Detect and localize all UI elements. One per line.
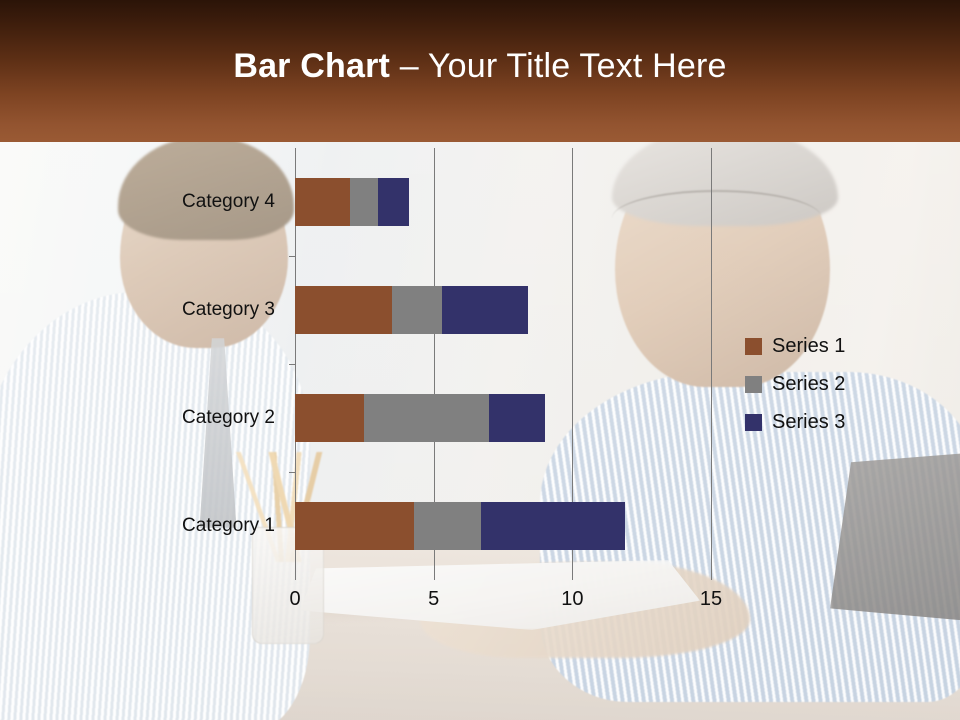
bar-segment-series-2[interactable] xyxy=(350,178,378,226)
legend-swatch-icon xyxy=(745,376,762,393)
chart-legend: Series 1Series 2Series 3 xyxy=(745,327,945,441)
stacked-bar[interactable] xyxy=(295,178,409,226)
bar-segment-series-3[interactable] xyxy=(481,502,625,550)
category-axis-label: Category 2 xyxy=(60,408,275,428)
plot-area xyxy=(295,148,711,580)
x-axis-tick-label: 0 xyxy=(265,588,325,611)
stacked-bar[interactable] xyxy=(295,286,528,334)
bar-segment-series-1[interactable] xyxy=(295,394,364,442)
legend-label: Series 1 xyxy=(772,335,845,358)
page-title-separator: – xyxy=(390,47,428,85)
gridline-x-15 xyxy=(711,148,712,580)
bar-segment-series-2[interactable] xyxy=(392,286,442,334)
legend-item[interactable]: Series 1 xyxy=(745,327,945,365)
legend-item[interactable]: Series 2 xyxy=(745,365,945,403)
legend-label: Series 3 xyxy=(772,411,845,434)
category-axis-label: Category 3 xyxy=(60,300,275,320)
legend-swatch-icon xyxy=(745,338,762,355)
bar-row xyxy=(295,256,711,364)
bar-segment-series-1[interactable] xyxy=(295,178,350,226)
x-axis-tick-label: 10 xyxy=(542,588,602,611)
category-axis-label: Category 1 xyxy=(60,516,275,536)
bar-segment-series-3[interactable] xyxy=(378,178,409,226)
bar-segment-series-3[interactable] xyxy=(442,286,528,334)
stacked-bar[interactable] xyxy=(295,394,545,442)
legend-label: Series 2 xyxy=(772,373,845,396)
bar-segment-series-2[interactable] xyxy=(364,394,489,442)
title-band: Bar Chart – Your Title Text Here xyxy=(0,0,960,142)
page-title-light: Your Title Text Here xyxy=(428,47,727,85)
bar-chart: Series 1Series 2Series 3 051015Category … xyxy=(0,142,960,720)
page-title: Bar Chart – Your Title Text Here xyxy=(0,47,960,86)
bar-segment-series-1[interactable] xyxy=(295,502,414,550)
bar-segment-series-1[interactable] xyxy=(295,286,392,334)
bar-segment-series-3[interactable] xyxy=(489,394,544,442)
category-axis-label: Category 4 xyxy=(60,192,275,212)
bar-row xyxy=(295,364,711,472)
bar-row xyxy=(295,472,711,580)
legend-item[interactable]: Series 3 xyxy=(745,403,945,441)
page-title-strong: Bar Chart xyxy=(233,47,390,85)
bar-row xyxy=(295,148,711,256)
stacked-bar[interactable] xyxy=(295,502,625,550)
slide: Bar Chart – Your Title Text Here Series … xyxy=(0,0,960,720)
legend-swatch-icon xyxy=(745,414,762,431)
x-axis-tick-label: 15 xyxy=(681,588,741,611)
x-axis-tick-label: 5 xyxy=(404,588,464,611)
bar-segment-series-2[interactable] xyxy=(414,502,481,550)
